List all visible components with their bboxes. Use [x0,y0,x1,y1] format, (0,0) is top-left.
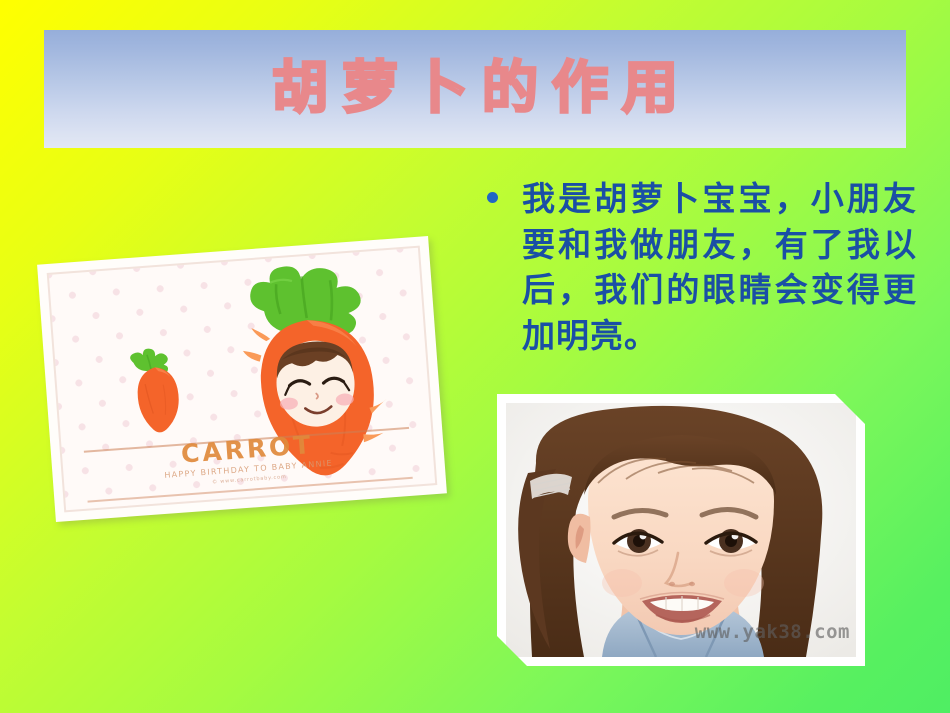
small-carrot-icon [122,343,193,439]
girl-photo: www.yak38.com [506,403,856,657]
slide-canvas: 胡萝卜的作用 我是胡萝卜宝宝，小朋友要和我做朋友，有了我以后，我们的眼睛会变得更… [0,0,950,713]
girl-photo-frame: www.yak38.com [497,394,865,666]
title-banner: 胡萝卜的作用 [44,30,906,148]
bullet-dot-icon [487,192,498,203]
photo-watermark: www.yak38.com [695,621,850,643]
carrot-baby-icon [231,257,395,491]
bullet-item-label: 我是胡萝卜宝宝，小朋友要和我做朋友，有了我以后，我们的眼睛会变得更加明亮。 [522,176,917,358]
carrot-illustration-card: CARROT HAPPY BIRTHDAY TO BABY ANNIE © ww… [37,236,447,522]
carrot-card-inner: CARROT HAPPY BIRTHDAY TO BABY ANNIE © ww… [47,246,438,513]
girl-portrait-image [506,403,856,657]
page-title: 胡萝卜的作用 [44,61,906,117]
body-text-block: 我是胡萝卜宝宝，小朋友要和我做朋友，有了我以后，我们的眼睛会变得更加明亮。 [487,176,917,358]
bullet-list-item: 我是胡萝卜宝宝，小朋友要和我做朋友，有了我以后，我们的眼睛会变得更加明亮。 [487,176,917,358]
